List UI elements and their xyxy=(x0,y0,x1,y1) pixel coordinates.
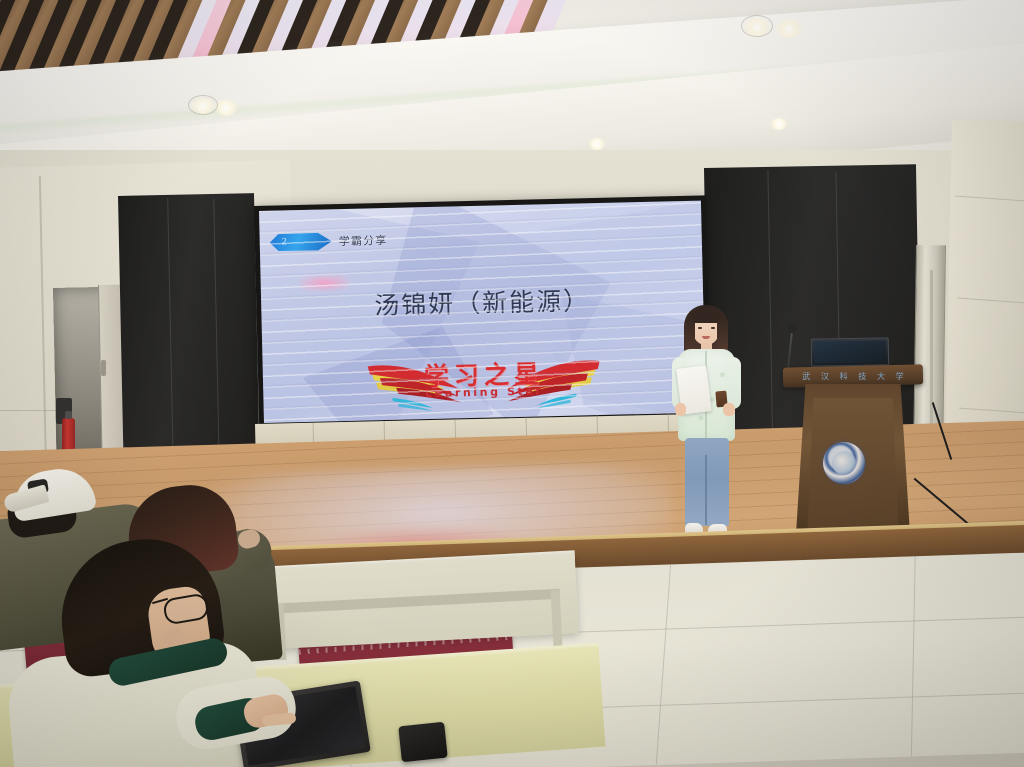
nameplate-char: 武 xyxy=(802,371,810,382)
laptop-screen xyxy=(814,340,886,363)
presenter-eye xyxy=(698,327,702,329)
acoustic-panel-left xyxy=(118,193,260,468)
lecture-hall-photo: 2 学霸分享 汤锦妍（新能源） xyxy=(0,0,1024,767)
tile-grout-line xyxy=(656,565,671,765)
nameplate-char: 技 xyxy=(858,371,866,382)
presenter-right-hand xyxy=(723,403,735,416)
smartphone-on-table[interactable] xyxy=(398,722,448,763)
badge-pennant-icon: 2 xyxy=(270,231,332,252)
nameplate-char: 科 xyxy=(840,371,848,382)
downlight-ring xyxy=(741,15,773,37)
jeans-seam xyxy=(705,455,707,525)
nameplate-char: 大 xyxy=(877,371,885,382)
nameplate-char: 学 xyxy=(896,371,904,382)
downlight xyxy=(776,20,802,38)
door-handle[interactable] xyxy=(101,360,106,376)
tile-grout-line xyxy=(911,556,916,756)
downlight xyxy=(770,118,788,130)
nameplate-char: 汉 xyxy=(821,371,829,382)
laptop-on-podium[interactable] xyxy=(811,337,889,366)
podium-nameplate: 武 汉 科 技 大 学 xyxy=(797,371,909,382)
led-screen[interactable]: 2 学霸分享 汤锦妍（新能源） xyxy=(259,201,706,423)
presenter-eye xyxy=(711,327,715,329)
downlight xyxy=(588,138,606,150)
pennant-shape xyxy=(270,231,332,252)
learning-star-logo: 学习之星 Learning Star xyxy=(365,349,602,417)
presenter-left-hand xyxy=(675,403,686,416)
badge-number: 2 xyxy=(282,234,287,250)
student-presenter xyxy=(670,305,742,555)
downlight-ring xyxy=(188,95,218,115)
badge-label: 学霸分享 xyxy=(339,232,388,249)
presenter-right-arm xyxy=(725,357,741,409)
slide-badge: 2 学霸分享 xyxy=(270,230,388,253)
university-emblem-icon xyxy=(823,442,865,484)
presenter-jeans xyxy=(685,438,729,526)
